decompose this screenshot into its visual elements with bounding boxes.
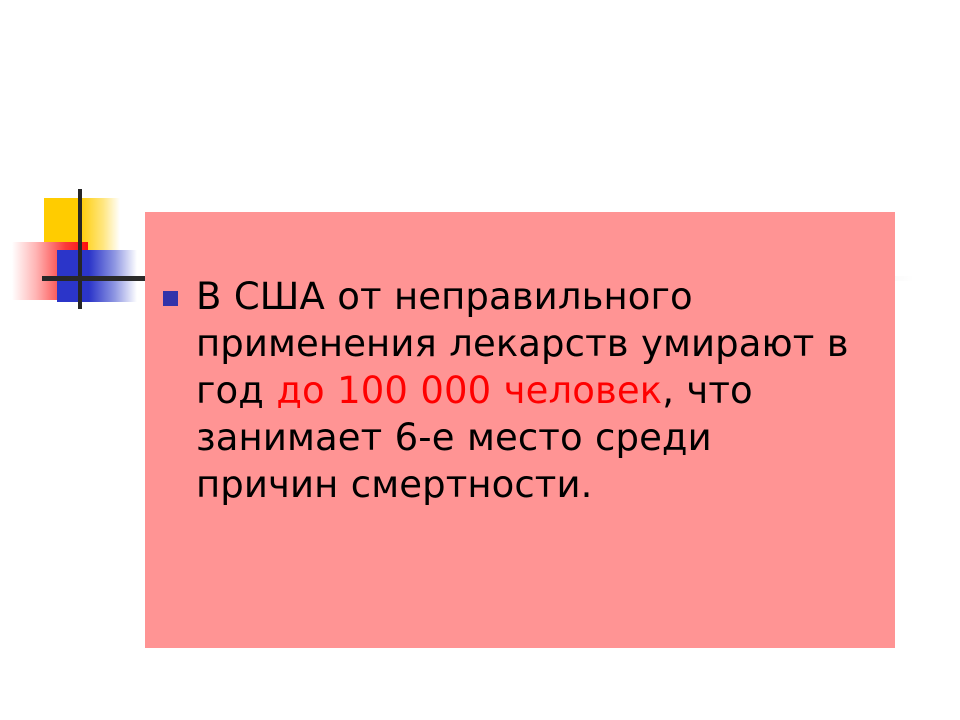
bullet-paragraph: В США от неправильного применения лекарс…: [196, 274, 851, 509]
content-body-box: В США от неправильного применения лекарс…: [145, 212, 895, 648]
list-item: В США от неправильного применения лекарс…: [163, 274, 851, 509]
vertical-rule: [78, 189, 82, 309]
bullet-text-highlight: до 100 000 человек: [276, 369, 662, 412]
bullet-square-icon: [163, 291, 178, 306]
slide: В США от неправильного применения лекарс…: [0, 0, 960, 720]
decorative-motif: [0, 90, 930, 230]
